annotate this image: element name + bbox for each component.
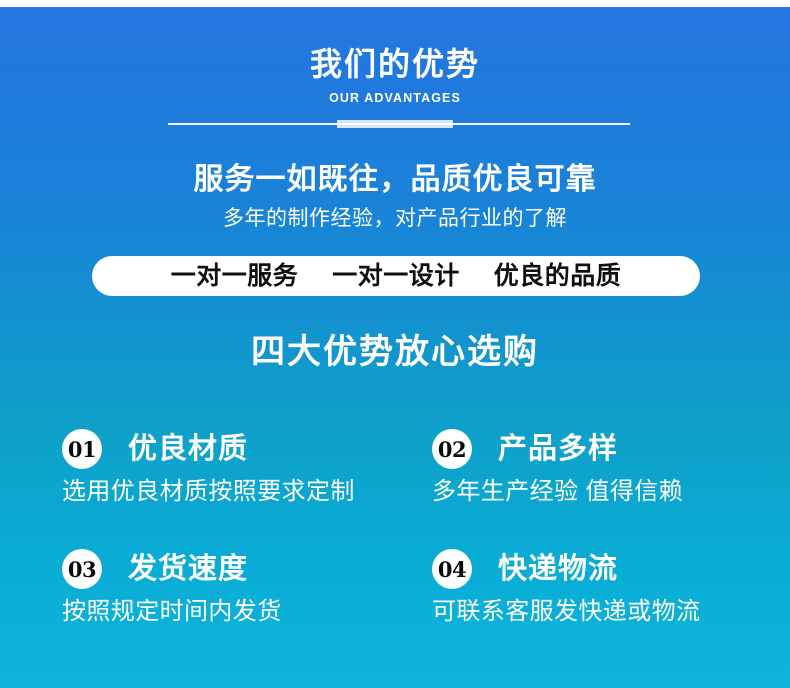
header-divider bbox=[168, 120, 630, 128]
advantage-title-04: 快递物流 bbox=[498, 551, 618, 587]
section-heading: 四大优势放心选购 bbox=[0, 328, 790, 376]
advantage-item-02: 02 产品多样 多年生产经验 值得信赖 bbox=[432, 428, 790, 508]
divider-center-bar bbox=[337, 120, 453, 128]
page-subtitle: OUR ADVANTAGES bbox=[0, 90, 790, 106]
advantages-banner: 我们的优势 OUR ADVANTAGES 服务一如既往，品质优良可靠 多年的制作… bbox=[0, 0, 790, 688]
advantage-item-04: 04 快递物流 可联系客服发快递或物流 bbox=[432, 548, 790, 628]
advantage-number-badge-03: 03 bbox=[62, 549, 102, 589]
advantage-head-03: 03 发货速度 bbox=[62, 548, 422, 590]
advantage-head-04: 04 快递物流 bbox=[432, 548, 790, 590]
advantage-item-03: 03 发货速度 按照规定时间内发货 bbox=[62, 548, 422, 628]
advantage-head-02: 02 产品多样 bbox=[432, 428, 790, 470]
page-title: 我们的优势 bbox=[0, 44, 790, 84]
slogan-headline: 服务一如既往，品质优良可靠 bbox=[0, 160, 790, 200]
highlights-pill: 一对一服务 一对一设计 优良的品质 bbox=[92, 256, 700, 296]
highlights-pill-inner: 一对一服务 一对一设计 优良的品质 bbox=[171, 261, 622, 291]
advantages-grid: 01 优良材质 选用优良材质按照要求定制 02 产品多样 多年生产经验 值得信赖… bbox=[0, 428, 790, 658]
header-block: 我们的优势 OUR ADVANTAGES bbox=[0, 44, 790, 106]
pill-item-1: 一对一设计 bbox=[332, 261, 460, 291]
advantage-number-badge-02: 02 bbox=[432, 429, 472, 469]
advantage-desc-04: 可联系客服发快递或物流 bbox=[432, 596, 790, 628]
advantage-item-01: 01 优良材质 选用优良材质按照要求定制 bbox=[62, 428, 422, 508]
slogan-subline: 多年的制作经验，对产品行业的了解 bbox=[0, 204, 790, 234]
advantage-desc-01: 选用优良材质按照要求定制 bbox=[62, 476, 422, 508]
pill-item-0: 一对一服务 bbox=[171, 261, 299, 291]
advantage-desc-02: 多年生产经验 值得信赖 bbox=[432, 476, 790, 508]
slogan-block: 服务一如既往，品质优良可靠 多年的制作经验，对产品行业的了解 bbox=[0, 160, 790, 234]
advantage-number-badge-01: 01 bbox=[62, 429, 102, 469]
pill-item-2: 优良的品质 bbox=[494, 261, 622, 291]
advantage-title-03: 发货速度 bbox=[128, 551, 248, 587]
advantage-title-02: 产品多样 bbox=[498, 431, 618, 467]
advantage-number-badge-04: 04 bbox=[432, 549, 472, 589]
advantage-title-01: 优良材质 bbox=[128, 431, 248, 467]
advantage-head-01: 01 优良材质 bbox=[62, 428, 422, 470]
advantage-desc-03: 按照规定时间内发货 bbox=[62, 596, 422, 628]
banner-content: 我们的优势 OUR ADVANTAGES 服务一如既往，品质优良可靠 多年的制作… bbox=[0, 0, 790, 688]
